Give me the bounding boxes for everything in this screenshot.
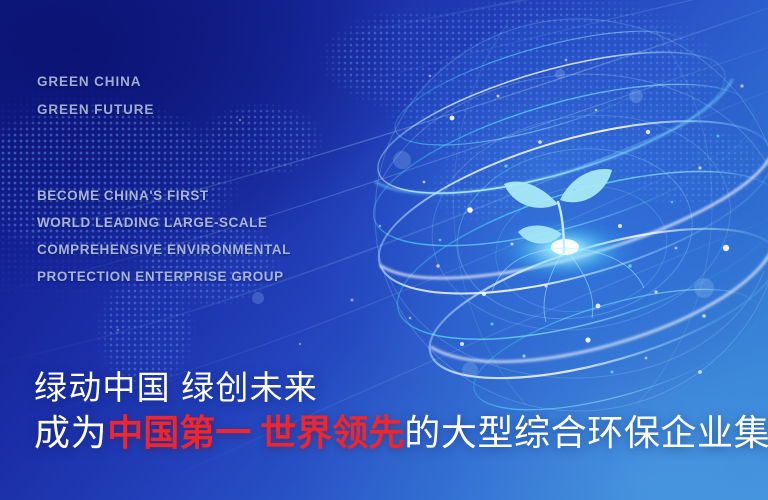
tagline-top-line-1: GREEN CHINA [37, 68, 154, 96]
headline-highlight-a: 中国第一 [107, 412, 251, 453]
tagline-mid: BECOME CHINA'S FIRST WORLD LEADING LARGE… [37, 182, 291, 290]
headline-prefix: 成为 [34, 412, 107, 453]
headline-block: 绿动中国 绿创未来 成为中国第一世界领先的大型综合环保企业集团 [34, 366, 768, 456]
headline-line-2: 成为中国第一世界领先的大型综合环保企业集团 [34, 410, 768, 456]
tagline-top-line-2: GREEN FUTURE [37, 96, 154, 124]
headline-suffix: 的大型综合环保企业集团 [404, 412, 768, 453]
hero-banner: GREEN CHINA GREEN FUTURE BECOME CHINA'S … [0, 0, 768, 500]
headline-line-1: 绿动中国 绿创未来 [34, 366, 768, 410]
tagline-mid-line-3: COMPREHENSIVE ENVIRONMENTAL [37, 236, 291, 263]
tagline-top: GREEN CHINA GREEN FUTURE [37, 68, 154, 124]
tagline-mid-line-1: BECOME CHINA'S FIRST [37, 182, 291, 209]
headline-highlight-b: 世界领先 [260, 412, 404, 453]
tagline-mid-line-4: PROTECTION ENTERPRISE GROUP [37, 263, 291, 290]
tagline-mid-line-2: WORLD LEADING LARGE-SCALE [37, 209, 291, 236]
